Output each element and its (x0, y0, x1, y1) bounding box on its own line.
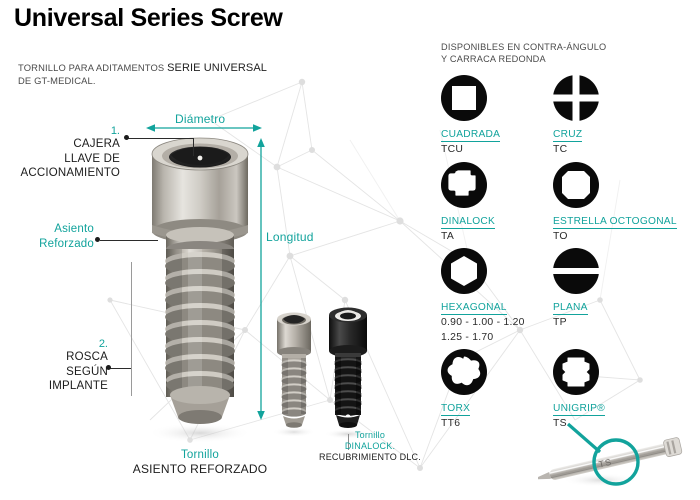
screwdriver-pointer-line (568, 424, 600, 452)
drive-row-1: CUADRADA TCU CRUZ TC (441, 72, 691, 159)
drive-item-hexagonal[interactable]: HEXAGONAL 0.90 - 1.00 - 1.20 1.25 - 1.70 (441, 245, 553, 344)
drive-item-cuadrada[interactable]: CUADRADA TCU (441, 72, 553, 157)
drive-name-dinalock: DINALOCK (441, 216, 495, 229)
subtitle-block: TORNILLO PARA ADITAMENTOS SERIE UNIVERSA… (18, 62, 267, 87)
plana-drive-icon (553, 248, 599, 294)
screwdriver-illustration: TS (538, 418, 700, 500)
drive-code-hexagonal: 0.90 - 1.00 - 1.20 (441, 317, 553, 330)
screwdriver-marking: TS (598, 457, 613, 470)
drive-item-cruz[interactable]: CRUZ TC (553, 72, 665, 157)
callout-rosca-line1: ROSCA (2, 350, 108, 365)
hexagonal-drive-icon (441, 248, 487, 294)
torx-glyph-wrap (441, 346, 553, 398)
subtitle-line1: TORNILLO PARA ADITAMENTOS (18, 62, 164, 73)
drive-name-unigrip: UNIGRIP® (553, 403, 605, 416)
cuadrada-glyph-wrap (441, 72, 553, 124)
drive-item-torx[interactable]: TORX TT6 (441, 346, 553, 431)
plana-glyph-wrap (553, 245, 665, 297)
drive-code-hexagonal-extra: 1.25 - 1.70 (441, 332, 553, 345)
callout-rosca-line3: IMPLANTE (2, 379, 108, 394)
callout-cajera-number: 1. (2, 125, 120, 137)
drive-name-estrella-octogonal: ESTRELLA OCTOGONAL (553, 216, 677, 229)
leader-dot-cajera (124, 135, 129, 140)
caption-right-bottom: RECUBRIMIENTO DLC. (288, 452, 452, 463)
torx-drive-icon (441, 349, 487, 395)
drive-name-cruz: CRUZ (553, 129, 582, 142)
leader-line-asiento (100, 240, 158, 241)
callout-rosca-line2: SEGÚN (2, 365, 108, 380)
length-dimension-arrow (255, 138, 267, 420)
drive-code-plana: TP (553, 317, 665, 330)
poster-canvas: Universal Series Screw TORNILLO PARA ADI… (0, 0, 700, 500)
drive-types-grid: CUADRADA TCU CRUZ TC (441, 72, 691, 433)
availability-line1: DISPONIBLES EN CONTRA-ÁNGULO (441, 42, 606, 52)
unigrip-drive-icon (553, 349, 599, 395)
diameter-label: Diámetro (175, 112, 225, 126)
drive-name-torx: TORX (441, 403, 470, 416)
leader-dot-rosca (106, 365, 111, 370)
subtitle-series: SERIE UNIVERSAL (167, 62, 267, 74)
callout-rosca-number: 2. (2, 338, 108, 350)
drive-code-cruz: TC (553, 144, 665, 157)
drive-name-hexagonal: HEXAGONAL (441, 302, 507, 315)
caption-right-mid: DINALOCK. (288, 441, 452, 452)
callout-rosca: 2. ROSCA SEGÚN IMPLANTE (2, 338, 108, 394)
small-dlc-screw-illustration (322, 305, 374, 440)
drive-item-estrella-octogonal[interactable]: ESTRELLA OCTOGONAL TO (553, 159, 665, 244)
cruz-drive-icon (553, 75, 599, 121)
callout-asiento-line1: Asiento (2, 222, 94, 237)
callout-cajera-line3: ACCIONAMIENTO (2, 166, 120, 181)
dinalock-drive-icon (441, 162, 487, 208)
hexagonal-glyph-wrap (441, 245, 553, 297)
caption-right-top: Tornillo (288, 430, 452, 441)
drive-item-dinalock[interactable]: DINALOCK TA (441, 159, 553, 244)
small-silver-screw-illustration (270, 310, 318, 438)
drive-item-plana[interactable]: PLANA TP (553, 245, 665, 344)
leader-line-rosca-vert (131, 262, 132, 396)
callout-asiento-line2: Reforzado (2, 237, 94, 252)
leader-line-cajera (128, 138, 194, 139)
page-title: Universal Series Screw (14, 4, 283, 33)
drive-code-estrella-octogonal: TO (553, 231, 665, 244)
caption-left-top: Tornillo (90, 448, 310, 462)
main-screw-illustration (140, 133, 260, 443)
drive-code-cuadrada: TCU (441, 144, 553, 157)
availability-line2: Y CARRACA REDONDA (441, 54, 546, 64)
drive-code-dinalock: TA (441, 231, 553, 244)
length-label: Longitud (266, 230, 314, 244)
caption-dinalock-dlc: Tornillo DINALOCK. RECUBRIMIENTO DLC. (288, 430, 452, 463)
drive-name-cuadrada: CUADRADA (441, 129, 500, 142)
cruz-glyph-wrap (553, 72, 665, 124)
drive-code-torx: TT6 (441, 418, 553, 431)
unigrip-glyph-wrap (553, 346, 665, 398)
cuadrada-drive-icon (441, 75, 487, 121)
leader-dot-asiento (95, 237, 100, 242)
callout-asiento-reforzado: Asiento Reforzado (2, 222, 94, 251)
leader-line-rosca (110, 368, 132, 369)
estrella-octogonal-drive-icon (553, 162, 599, 208)
callout-cajera-line2: LLAVE DE (2, 152, 120, 167)
estrella-octogonal-glyph-wrap (553, 159, 665, 211)
leader-line-cajera-vert (193, 138, 194, 156)
drive-row-3: HEXAGONAL 0.90 - 1.00 - 1.20 1.25 - 1.70… (441, 245, 691, 346)
callout-cajera-line1: CAJERA (2, 137, 120, 152)
drive-row-2: DINALOCK TA ESTRELLA OCTOGONAL TO (441, 159, 691, 246)
callout-cajera: 1. CAJERA LLAVE DE ACCIONAMIENTO (2, 125, 120, 181)
caption-asiento-reforzado: Tornillo ASIENTO REFORZADO (90, 448, 310, 477)
subtitle-line2: DE GT-MEDICAL. (18, 75, 96, 86)
caption-left-bottom: ASIENTO REFORZADO (90, 462, 310, 477)
availability-note: DISPONIBLES EN CONTRA-ÁNGULO Y CARRACA R… (441, 41, 606, 65)
drive-name-plana: PLANA (553, 302, 588, 315)
dinalock-glyph-wrap (441, 159, 553, 211)
